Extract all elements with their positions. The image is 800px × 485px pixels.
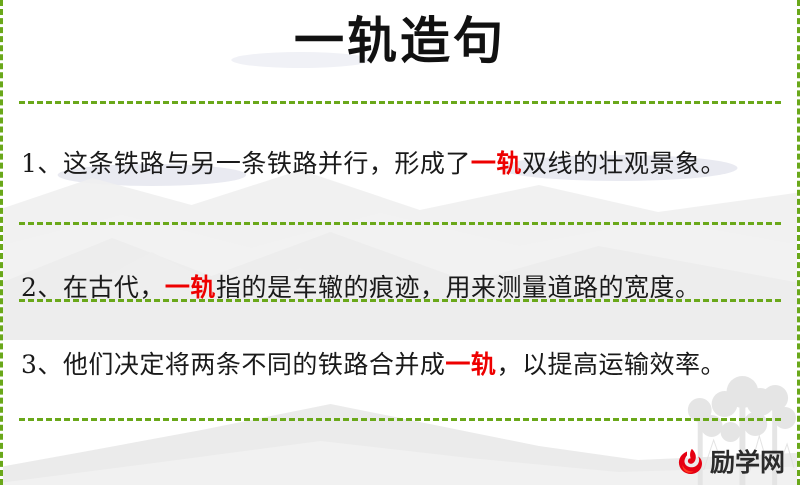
sentence-1-text-after: 双线的壮观景象。 xyxy=(522,149,726,178)
page-title: 一轨造句 xyxy=(294,12,506,70)
sentence-1-text-before: 这条铁路与另一条铁路并行，形成了 xyxy=(63,149,471,178)
sentence-1-keyword: 一轨 xyxy=(471,149,522,178)
sentence-2-keyword: 一轨 xyxy=(165,273,216,302)
flame-swirl-icon xyxy=(675,447,705,477)
divider-top xyxy=(19,101,781,104)
worksheet-page: 一轨造句 1、这条铁路与另一条铁路并行，形成了一轨双线的壮观景象。 2、在古代，… xyxy=(0,0,800,485)
divider-after-sentence-1 xyxy=(19,222,781,225)
sentence-1-index: 1、 xyxy=(21,149,63,178)
site-logo: 励学网 xyxy=(675,447,785,477)
example-sentence-3: 3、他们决定将两条不同的铁路合并成一轨，以提高运输效率。 xyxy=(21,343,779,386)
example-sentence-2: 2、在古代，一轨指的是车辙的痕迹，用来测量道路的宽度。 xyxy=(21,266,779,309)
page-title-container: 一轨造句 xyxy=(3,12,797,70)
background-ink-wash-art xyxy=(3,0,797,485)
sentence-2-index: 2、 xyxy=(21,273,63,302)
sentence-2-text-before: 在古代， xyxy=(63,273,165,302)
sentence-3-keyword: 一轨 xyxy=(445,350,496,379)
site-logo-text: 励学网 xyxy=(710,450,785,475)
divider-after-sentence-3 xyxy=(19,418,781,421)
sentence-3-text-after: ，以提高运输效率。 xyxy=(496,350,726,379)
sentence-3-text-before: 他们决定将两条不同的铁路合并成 xyxy=(63,350,446,379)
sentence-2-text-after: 指的是车辙的痕迹，用来测量道路的宽度。 xyxy=(216,273,701,302)
example-sentence-1: 1、这条铁路与另一条铁路并行，形成了一轨双线的壮观景象。 xyxy=(21,142,779,185)
sentence-3-index: 3、 xyxy=(21,350,63,379)
